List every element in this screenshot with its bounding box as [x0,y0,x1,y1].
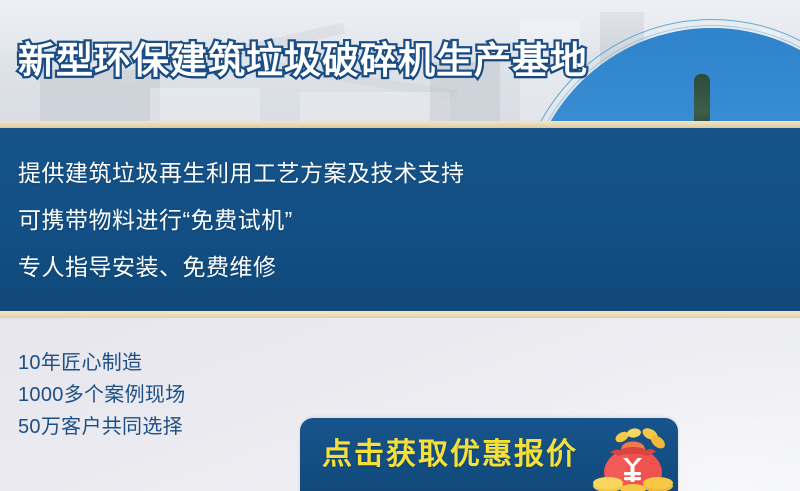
get-quote-label: 点击获取优惠报价 [322,434,578,476]
feature-list: 提供建筑垃圾再生利用工艺方案及技术支持 可携带物料进行“免费试机” 专人指导安装… [18,150,538,291]
stat-item: 10年匠心制造 [18,347,318,379]
stat-item: 1000多个案例现场 [18,379,318,411]
divider-top [0,121,800,128]
feature-item: 专人指导安装、免费维修 [18,244,538,291]
feature-item: 提供建筑垃圾再生利用工艺方案及技术支持 [18,150,538,197]
stats-list: 10年匠心制造 1000多个案例现场 50万客户共同选择 [18,347,318,443]
feature-item: 可携带物料进行“免费试机” [18,197,538,244]
money-bag-icon [588,426,674,491]
divider-bottom [0,311,800,318]
promo-banner: 郑州中意矿山机械有限公司 新型环保建筑垃圾破碎机生产基地 提供建筑垃圾再生利用工… [0,0,800,491]
page-title: 新型环保建筑垃圾破碎机生产基地 [18,38,588,84]
stat-item: 50万客户共同选择 [18,411,318,443]
get-quote-button[interactable]: 点击获取优惠报价 [300,418,678,491]
